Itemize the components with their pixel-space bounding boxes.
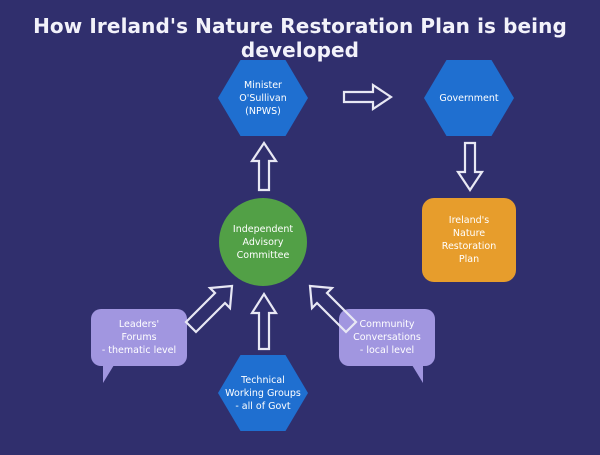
node-technical-working-groups[interactable]: Technical Working Groups - all of Govt	[218, 355, 308, 431]
diagram-canvas: How Ireland's Nature Restoration Plan is…	[0, 0, 600, 455]
arrow-advisory-to-minister-icon	[250, 142, 278, 192]
node-technical-working-groups-label: Technical Working Groups - all of Govt	[225, 374, 301, 413]
speech-tail-icon	[412, 365, 423, 383]
node-nature-restoration-plan[interactable]: Ireland's Nature Restoration Plan	[422, 198, 516, 282]
node-leaders-forums[interactable]: Leaders' Forums - thematic level	[91, 309, 187, 366]
node-independent-advisory-committee[interactable]: Independent Advisory Committee	[219, 198, 307, 286]
speech-tail-icon	[103, 365, 114, 383]
node-community-conversations-label: Community Conversations - local level	[353, 318, 421, 357]
arrow-community-conversations-to-advisory-icon	[306, 284, 358, 336]
node-minister-osullivan[interactable]: Minister O'Sullivan (NPWS)	[218, 60, 308, 136]
node-government-label: Government	[439, 92, 498, 105]
node-leaders-forums-body: Leaders' Forums - thematic level	[91, 309, 187, 366]
arrow-leaders-forums-to-advisory-icon	[184, 284, 236, 336]
node-government[interactable]: Government	[424, 60, 514, 136]
page-title: How Ireland's Nature Restoration Plan is…	[0, 14, 600, 62]
arrow-government-to-plan-icon	[456, 142, 484, 192]
arrow-technical-working-groups-to-advisory-icon	[250, 293, 278, 351]
node-nature-restoration-plan-label: Ireland's Nature Restoration Plan	[442, 214, 496, 266]
node-leaders-forums-label: Leaders' Forums - thematic level	[102, 318, 176, 357]
arrow-minister-to-government-icon	[343, 83, 393, 111]
node-independent-advisory-committee-label: Independent Advisory Committee	[233, 223, 293, 262]
node-minister-osullivan-label: Minister O'Sullivan (NPWS)	[239, 79, 287, 118]
